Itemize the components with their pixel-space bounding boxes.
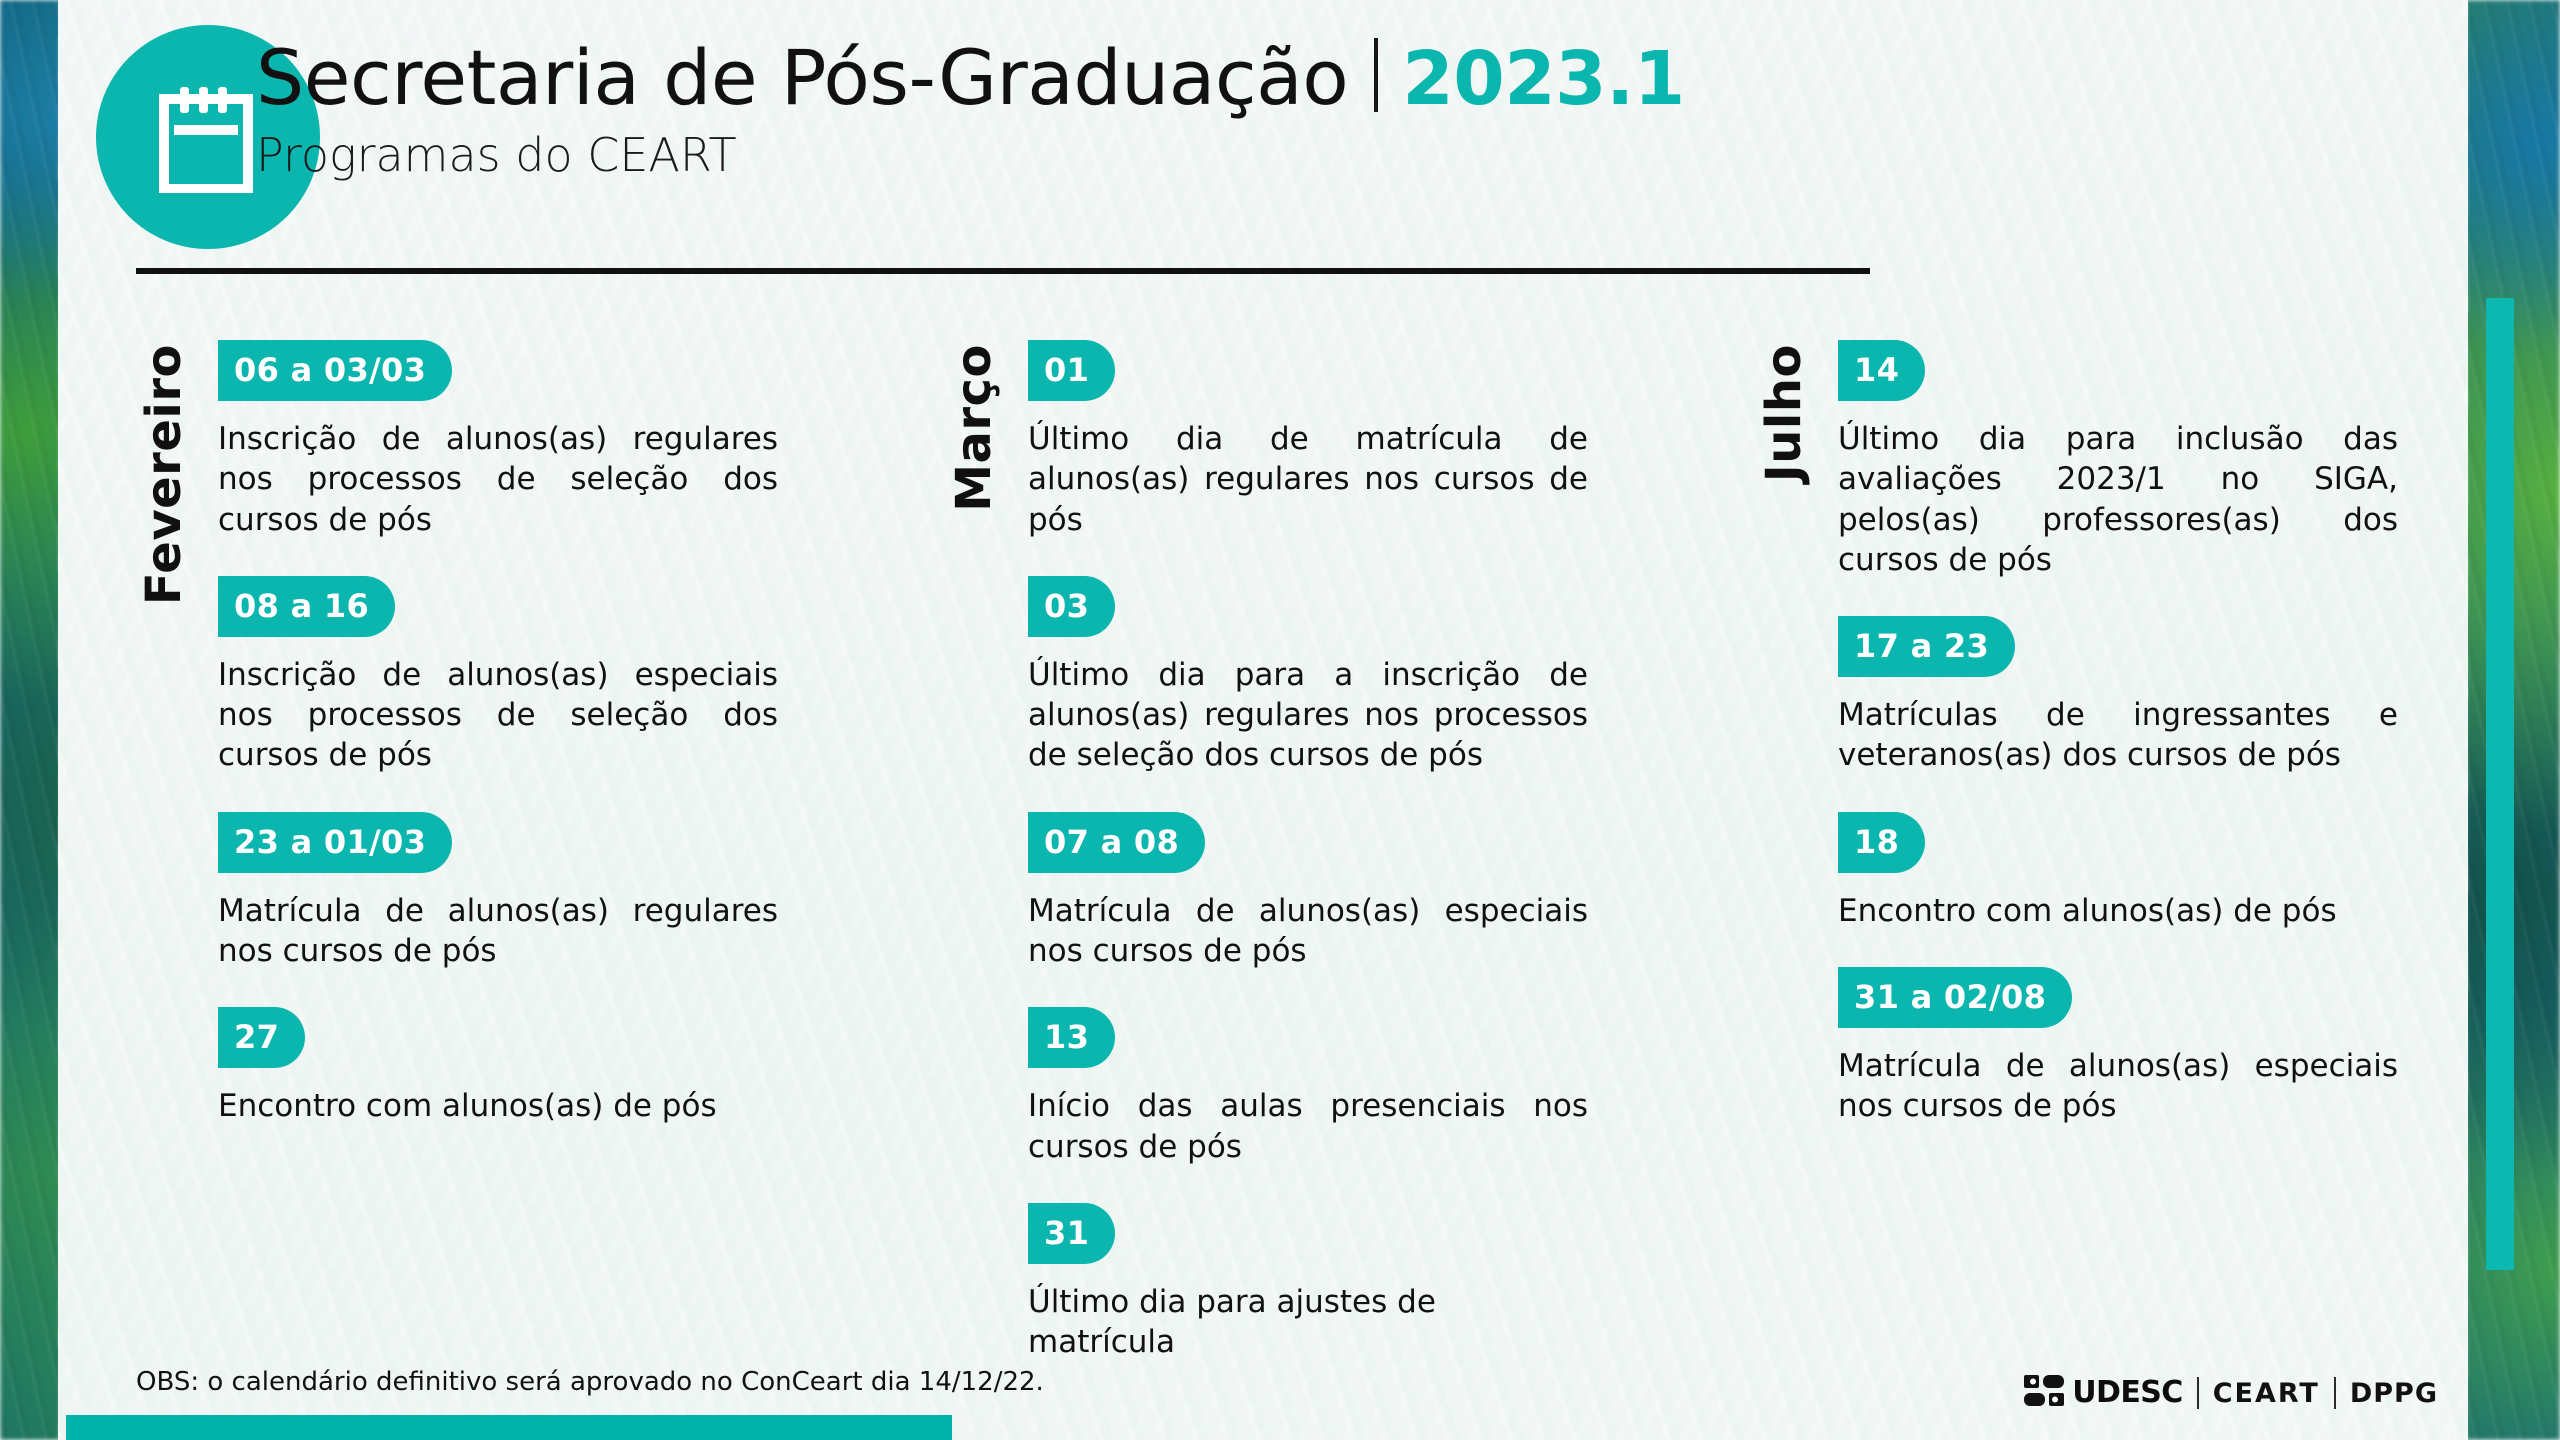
entries-julho: 14 Último dia para inclusão das avaliaçõ…: [1838, 340, 2400, 1127]
date-badge: 06 a 03/03: [218, 340, 452, 401]
month-column-fevereiro: Fevereiro 06 a 03/03 Inscrição de alunos…: [140, 340, 780, 1127]
date-badge: 31: [1028, 1203, 1115, 1264]
entry-description: Último dia para ajustes de matrícula: [1028, 1282, 1588, 1363]
date-badge: 08 a 16: [218, 576, 395, 637]
accent-bar-bottom: [66, 1415, 952, 1440]
date-badge: 17 a 23: [1838, 616, 2015, 677]
entry-description: Matrículas de ingressantes e veteranos(a…: [1838, 695, 2398, 776]
entry-description: Encontro com alunos(as) de pós: [1838, 891, 2398, 931]
entry-description: Último dia para inclusão das avaliações …: [1838, 419, 2398, 580]
brand-ceart: CEART: [2213, 1380, 2320, 1407]
entries-marco: 01 Último dia de matrícula de alunos(as)…: [1028, 340, 1590, 1363]
entry-description: Encontro com alunos(as) de pós: [218, 1086, 778, 1126]
entry-description: Inscrição de alunos(as) especiais nos pr…: [218, 655, 778, 776]
date-badge: 23 a 01/03: [218, 812, 452, 873]
calendar-entry: 14 Último dia para inclusão das avaliaçõ…: [1838, 340, 2400, 580]
brand-udesc: UDESC: [2072, 1378, 2182, 1408]
brand-divider: [2197, 1377, 2199, 1409]
calendar-entry: 23 a 01/03 Matrícula de alunos(as) regul…: [218, 812, 780, 972]
brand-divider: [2334, 1377, 2336, 1409]
date-badge: 31 a 02/08: [1838, 967, 2072, 1028]
calendar-entry: 13 Início das aulas presenciais nos curs…: [1028, 1007, 1590, 1167]
entry-description: Matrícula de alunos(as) especiais nos cu…: [1028, 891, 1588, 972]
entry-description: Inscrição de alunos(as) regulares nos pr…: [218, 419, 778, 540]
title-block: Secretaria de Pós-Graduação 2023.1 Progr…: [256, 30, 1685, 182]
footnote: OBS: o calendário definitivo será aprova…: [136, 1367, 1044, 1397]
months-grid: Fevereiro 06 a 03/03 Inscrição de alunos…: [0, 340, 2410, 1350]
calendar-entry: 08 a 16 Inscrição de alunos(as) especiai…: [218, 576, 780, 776]
date-badge: 01: [1028, 340, 1115, 401]
calendar-entry: 06 a 03/03 Inscrição de alunos(as) regul…: [218, 340, 780, 540]
entry-description: Último dia para a inscrição de alunos(as…: [1028, 655, 1588, 776]
month-label-julho: Julho: [1760, 344, 1808, 482]
calendar-entry: 27 Encontro com alunos(as) de pós: [218, 1007, 780, 1126]
brand-dppg: DPPG: [2350, 1380, 2438, 1407]
poster-header: Secretaria de Pós-Graduação 2023.1 Progr…: [0, 0, 2410, 290]
accent-bar-right: [2486, 298, 2514, 1270]
calendar-entry: 03 Último dia para a inscrição de alunos…: [1028, 576, 1590, 776]
page-title: Secretaria de Pós-Graduação: [256, 38, 1348, 118]
header-divider: [136, 268, 1870, 274]
entry-description: Último dia de matrícula de alunos(as) re…: [1028, 419, 1588, 540]
date-badge: 27: [218, 1007, 305, 1068]
entry-description: Matrícula de alunos(as) especiais nos cu…: [1838, 1046, 2398, 1127]
brand-lockup: UDESC CEART DPPG: [2024, 1372, 2438, 1414]
date-badge: 03: [1028, 576, 1115, 637]
calendar-entry: 01 Último dia de matrícula de alunos(as)…: [1028, 340, 1590, 540]
title-separator: [1374, 38, 1378, 112]
entry-description: Início das aulas presenciais nos cursos …: [1028, 1086, 1588, 1167]
calendar-entry: 31 Último dia para ajustes de matrícula: [1028, 1203, 1590, 1363]
month-label-marco: Março: [950, 344, 998, 512]
calendar-entry: 31 a 02/08 Matrícula de alunos(as) espec…: [1838, 967, 2400, 1127]
udesc-logo-mark-icon: [2024, 1375, 2064, 1411]
month-column-marco: Março 01 Último dia de matrícula de alun…: [950, 340, 1590, 1363]
calendar-entry: 07 a 08 Matrícula de alunos(as) especiai…: [1028, 812, 1590, 972]
entry-description: Matrícula de alunos(as) regulares nos cu…: [218, 891, 778, 972]
month-label-fevereiro: Fevereiro: [140, 344, 188, 605]
date-badge: 18: [1838, 812, 1925, 873]
date-badge: 13: [1028, 1007, 1115, 1068]
page-subtitle: Programas do CEART: [256, 128, 1685, 182]
date-badge: 14: [1838, 340, 1925, 401]
calendar-entry: 18 Encontro com alunos(as) de pós: [1838, 812, 2400, 931]
date-badge: 07 a 08: [1028, 812, 1205, 873]
entries-fevereiro: 06 a 03/03 Inscrição de alunos(as) regul…: [218, 340, 780, 1127]
calendar-entry: 17 a 23 Matrículas de ingressantes e vet…: [1838, 616, 2400, 776]
month-column-julho: Julho 14 Último dia para inclusão das av…: [1760, 340, 2400, 1127]
calendar-poster: Secretaria de Pós-Graduação 2023.1 Progr…: [0, 0, 2560, 1440]
semester-year: 2023.1: [1402, 36, 1685, 122]
